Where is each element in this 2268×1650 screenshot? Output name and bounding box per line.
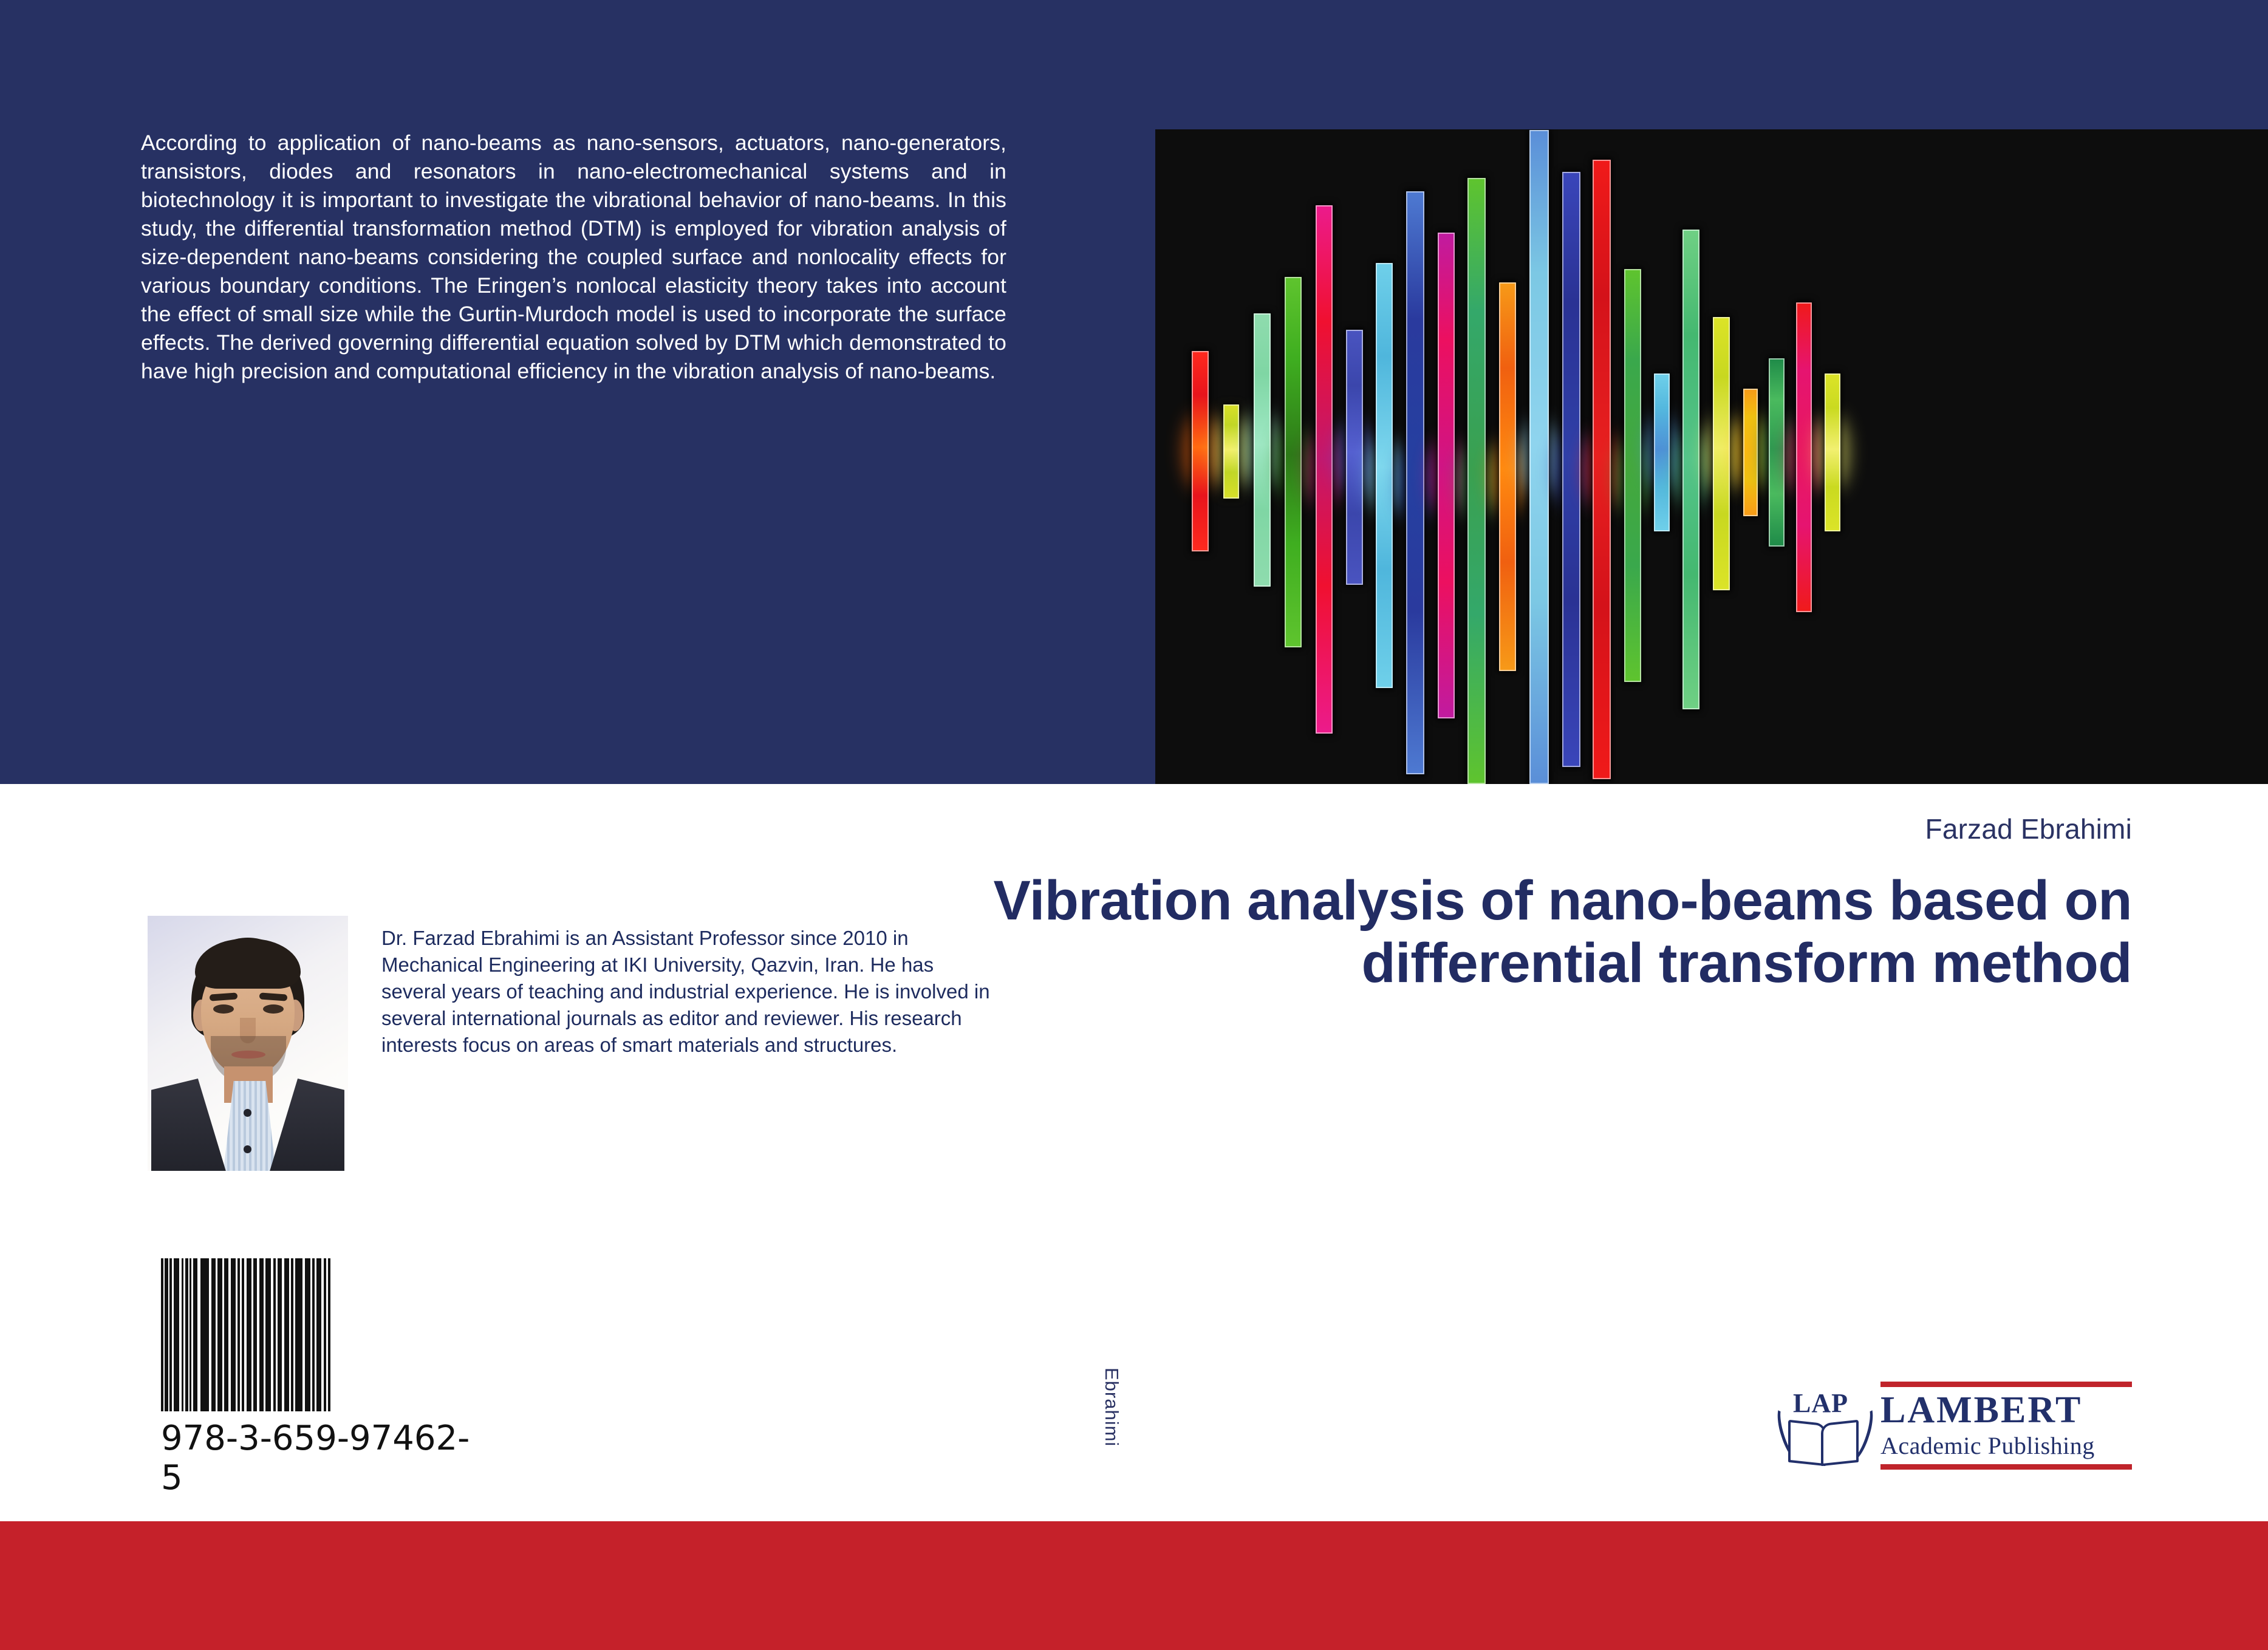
portrait-mouth	[231, 1051, 265, 1059]
artwork-bar	[1713, 317, 1730, 590]
publisher-name: LAMBERT	[1880, 1391, 2132, 1430]
spine-author-surname: Ebrahimi	[1101, 1368, 1122, 1447]
artwork-bar	[1192, 351, 1209, 551]
logo-rule-bottom	[1880, 1464, 2132, 1470]
page-title: Vibration analysis of nano-beams based o…	[978, 870, 2132, 995]
artwork-bar	[1769, 358, 1785, 547]
artwork-bar	[1406, 191, 1424, 774]
artwork-bar	[1562, 172, 1580, 767]
portrait-jacket-left	[151, 1079, 227, 1171]
artwork-bar	[1624, 269, 1641, 682]
artwork-bar	[1467, 178, 1486, 784]
barcode-stripe	[217, 1258, 222, 1411]
portrait-eye-right	[263, 1004, 284, 1014]
artwork-bar	[1438, 233, 1455, 718]
barcode-stripe	[328, 1258, 330, 1411]
portrait-shirt-button-bottom	[244, 1145, 251, 1153]
barcode-image	[161, 1258, 471, 1411]
barcode-stripe	[224, 1258, 228, 1411]
barcode-stripe	[295, 1258, 302, 1411]
barcode-stripe	[259, 1258, 264, 1411]
logo-rule-top	[1880, 1382, 2132, 1387]
book-cover-page: According to application of nano-beams a…	[0, 0, 2268, 1650]
artwork-bar	[1376, 263, 1393, 688]
barcode-stripe	[174, 1258, 179, 1411]
artwork-bar	[1285, 277, 1302, 647]
portrait-fringe	[195, 939, 301, 989]
artwork-bar	[1682, 230, 1699, 709]
author-biography: Dr. Farzad Ebrahimi is an Assistant Prof…	[381, 925, 1001, 1058]
isbn-barcode-block: 978-3-659-97462-5	[161, 1258, 471, 1498]
artwork-bar	[1254, 313, 1271, 587]
barcode-stripe	[200, 1258, 209, 1411]
artwork-bar	[1796, 302, 1812, 612]
artwork-bar	[1593, 160, 1611, 779]
barcode-stripe	[193, 1258, 197, 1411]
barcode-stripe	[211, 1258, 216, 1411]
publisher-tagline: Academic Publishing	[1880, 1431, 2132, 1460]
artwork-bar	[1743, 389, 1758, 516]
artwork-bar	[1529, 130, 1549, 784]
bottom-red-band	[0, 1521, 2268, 1650]
barcode-stripe	[278, 1258, 282, 1411]
artwork-bar	[1499, 282, 1516, 671]
barcode-stripe	[284, 1258, 289, 1411]
portrait-eye-left	[213, 1004, 234, 1014]
publisher-wordmark: LAMBERT Academic Publishing	[1880, 1382, 2132, 1470]
artwork-bar	[1223, 404, 1239, 499]
book-page-left	[1788, 1420, 1826, 1467]
lap-emblem-icon: LAP	[1780, 1384, 1865, 1475]
barcode-stripe	[305, 1258, 310, 1411]
barcode-stripe	[247, 1258, 251, 1411]
author-portrait-photo	[148, 916, 348, 1171]
cover-artwork	[1155, 129, 2268, 784]
artwork-bar	[1654, 373, 1670, 531]
barcode-stripe	[316, 1258, 321, 1411]
artwork-bar	[1316, 205, 1333, 734]
open-book-icon	[1788, 1422, 1856, 1462]
barcode-stripe	[265, 1258, 271, 1411]
portrait-shirt-button-top	[244, 1109, 251, 1117]
barcode-stripe	[231, 1258, 236, 1411]
back-cover-blurb: According to application of nano-beams a…	[141, 129, 1006, 386]
publisher-logo: LAP LAMBERT Academic Publishing	[1780, 1382, 2132, 1491]
book-page-right	[1821, 1420, 1859, 1467]
isbn-number: 978-3-659-97462-5	[161, 1419, 471, 1498]
artwork-bar	[1825, 373, 1840, 531]
front-cover-author: Farzad Ebrahimi	[1925, 813, 2132, 845]
lap-emblem-label: LAP	[1793, 1388, 1848, 1419]
artwork-bar	[1346, 330, 1363, 585]
portrait-jacket-right	[269, 1079, 344, 1171]
